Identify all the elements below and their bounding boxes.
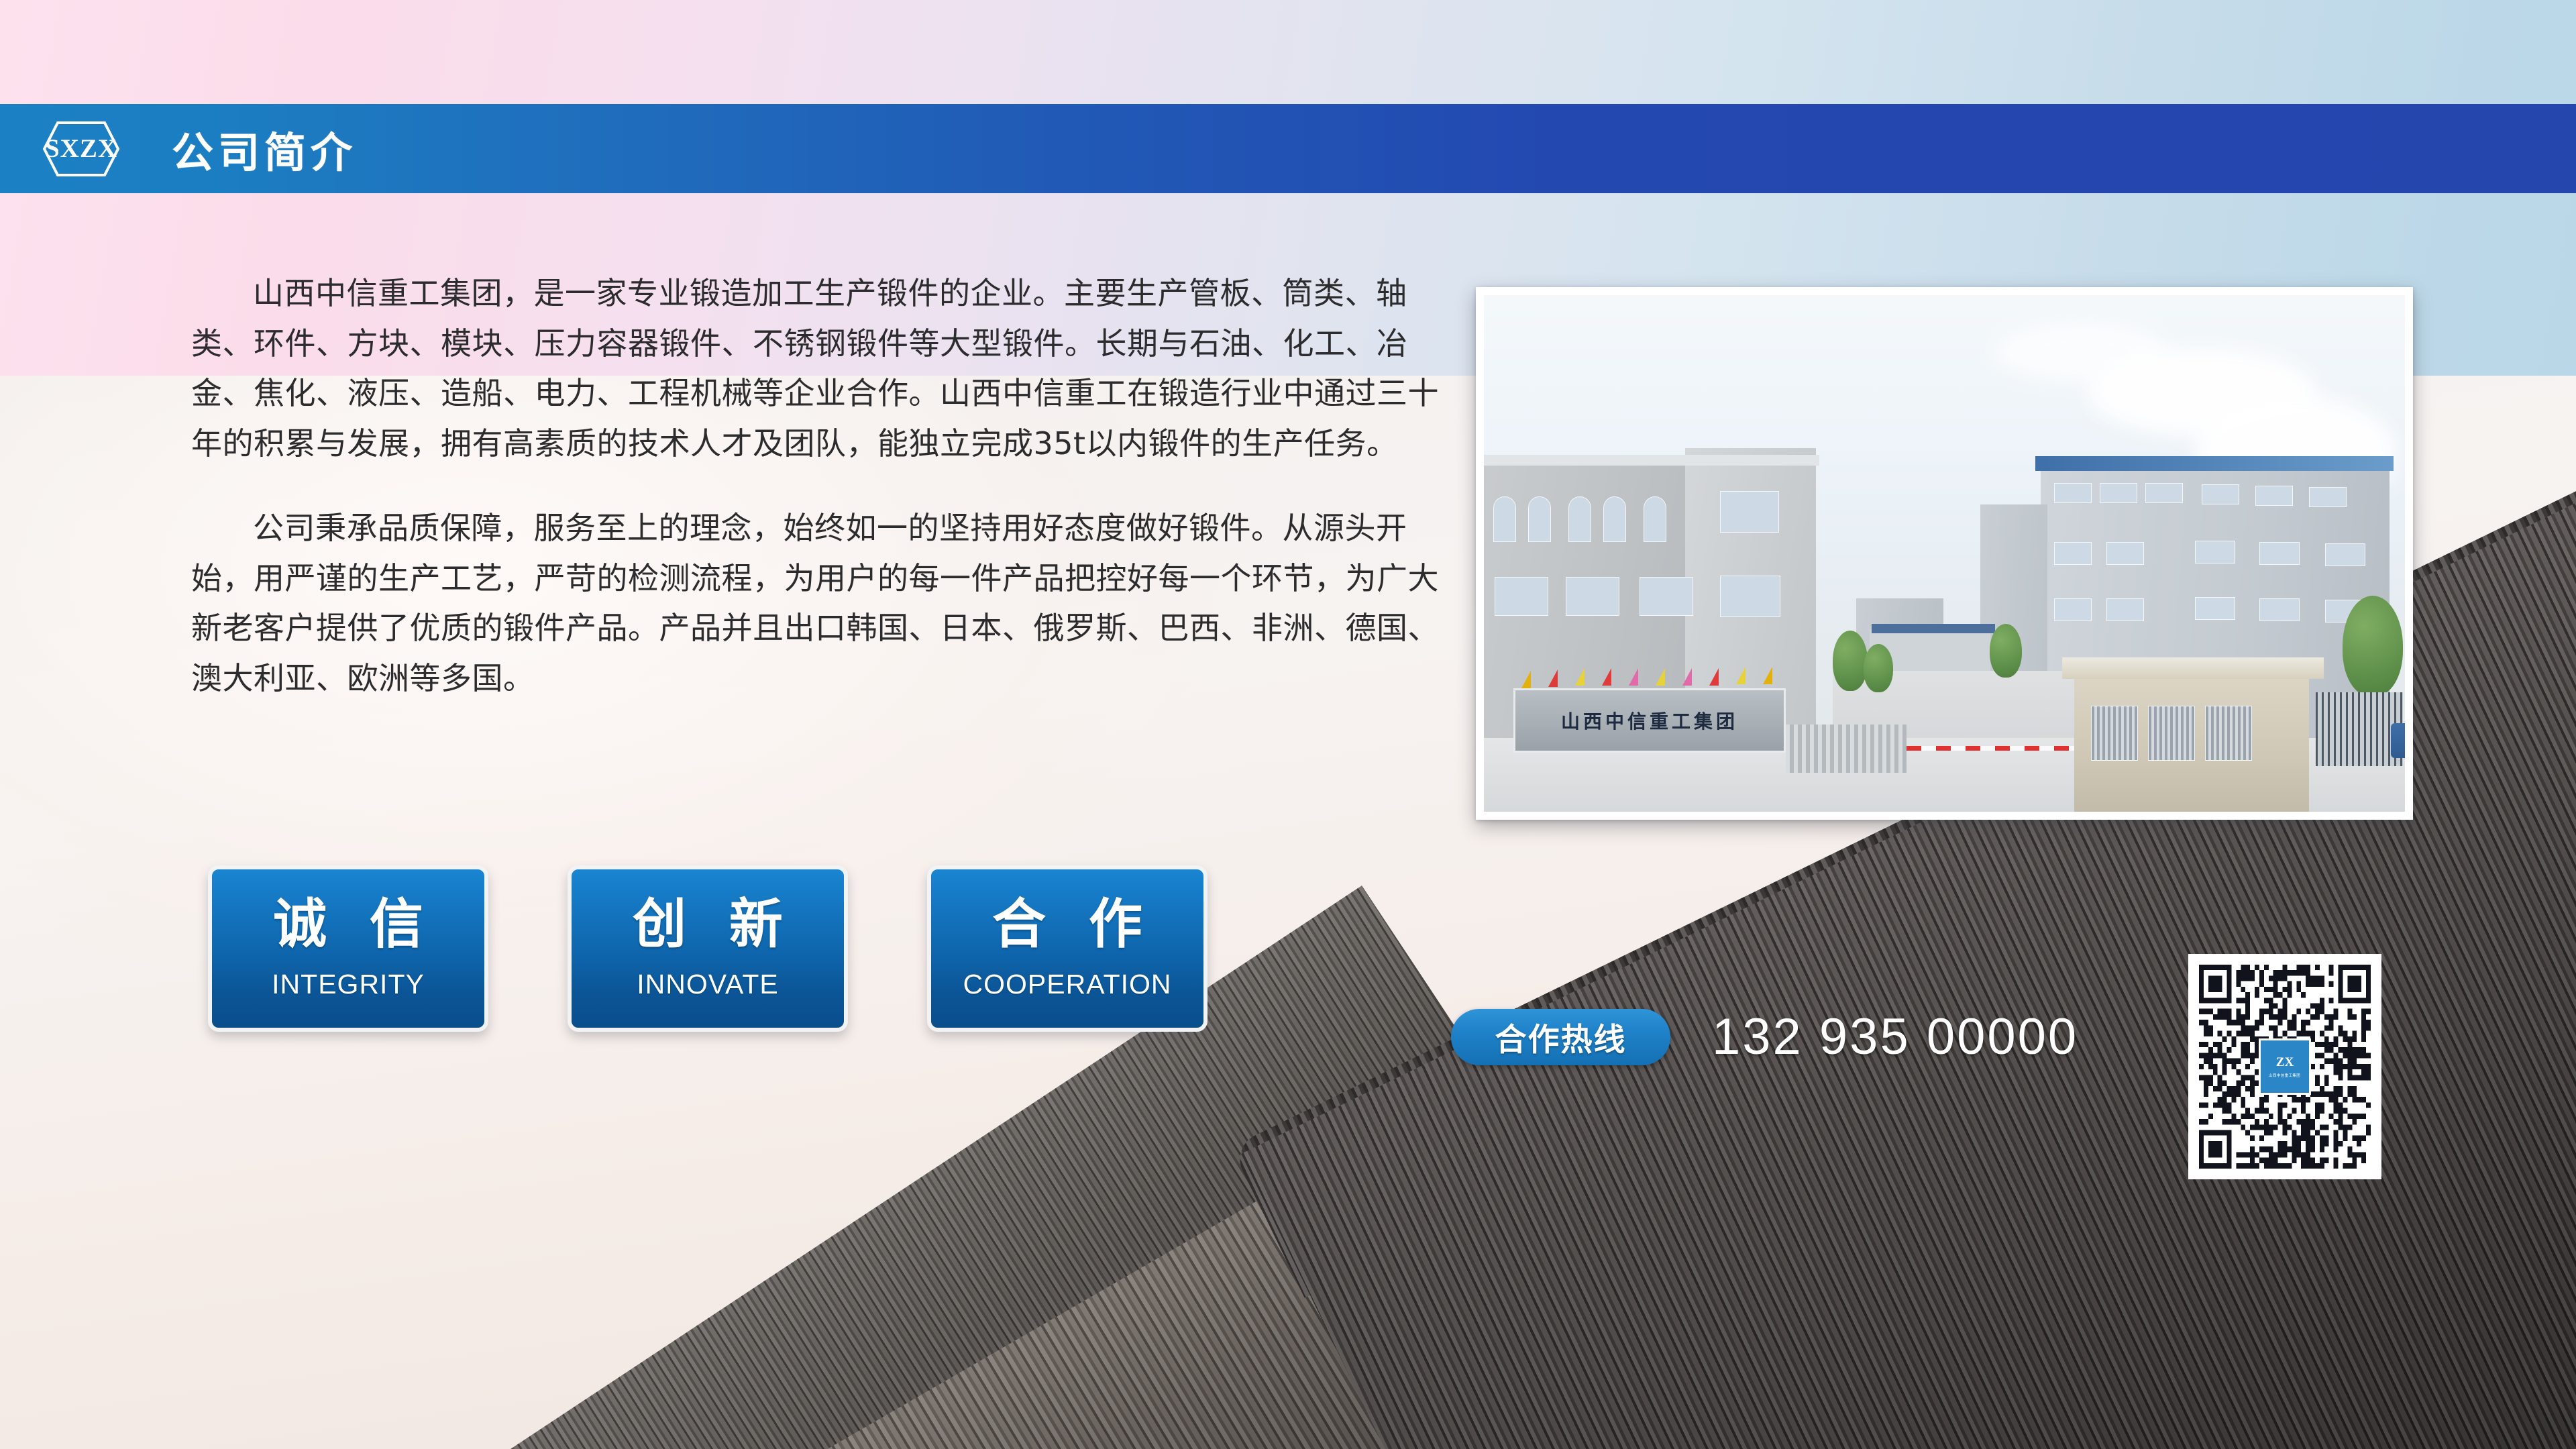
factory-sign-text: 山西中信重工集团 [1561,707,1738,734]
slide-canvas: SXZX 公司简介 山西中信重工集团，是一家专业锻造加工生产锻件的企业。主要生产… [0,0,2576,1449]
window [2106,598,2144,621]
intro-paragraph-2: 公司秉承品质保障，服务至上的理念，始终如一的坚持用好态度做好锻件。从源头开始，用… [191,503,1439,703]
factory-photo-frame: 山西中信重工集团 [1476,287,2413,820]
gatehouse-window [2148,706,2195,761]
window [2325,543,2365,566]
window [1566,577,1619,616]
window [1720,576,1780,617]
qr-code-card[interactable]: ZX 山西中信重工集团 [2188,954,2381,1179]
flag [1521,671,1531,688]
value-button-integrity[interactable]: 诚 信 INTEGRITY [208,865,488,1032]
window [2202,484,2239,504]
window [1644,496,1666,542]
flag [1709,668,1719,686]
tree [1990,624,2022,678]
cloud [1994,322,2168,382]
gatehouse-window [2091,706,2138,761]
factory-entrance-photo: 山西中信重工集团 [1484,295,2405,812]
tree [2343,596,2403,696]
window [2054,542,2092,565]
hotline-badge-label: 合作热线 [1495,1014,1627,1060]
perimeter-fence [2316,692,2403,766]
window [1493,496,1516,542]
value-label-en: COOPERATION [963,969,1172,1000]
flag [1548,669,1558,687]
wechat-qr-code[interactable]: ZX 山西中信重工集团 [2199,965,2371,1169]
qr-center-logo: ZX 山西中信重工集团 [2261,1040,2309,1093]
factory-sign-board: 山西中信重工集团 [1513,688,1786,753]
flag [1575,668,1585,686]
boom-barrier [1907,746,2088,751]
intro-paragraph-1: 山西中信重工集团，是一家专业锻造加工生产锻件的企业。主要生产管板、筒类、轴类、环… [191,268,1439,468]
hotline-phone-number[interactable]: 132 935 00000 [1712,1008,2078,1066]
qr-logo-subtext: 山西中信重工集团 [2269,1072,2300,1077]
logo-initials: SXZX [45,133,117,164]
window [2054,483,2092,503]
tree [1833,631,1868,691]
window [1640,577,1693,616]
hotline-block: 合作热线 132 935 00000 [1451,1008,2078,1066]
flag [1656,668,1665,686]
tree [1864,644,1893,692]
window [2259,598,2300,621]
value-label-en: INNOVATE [637,969,779,1000]
window [2255,486,2293,506]
window [2195,597,2235,620]
flag [1629,668,1638,686]
window [2054,598,2092,621]
flag [1602,668,1611,686]
window [2309,487,2347,507]
building-left-cornice [1484,455,1819,466]
page-title: 公司简介 [172,119,357,179]
qr-logo-initials: ZX [2276,1056,2294,1069]
flag [1736,667,1746,684]
hexagon-badge-icon: SXZX [42,120,121,178]
core-values-group: 诚 信 INTEGRITY 创 新 INNOVATE 合 作 COOPERATI… [208,865,1207,1032]
hotline-badge: 合作热线 [1451,1009,1670,1065]
window [2145,483,2183,503]
window [2106,542,2144,565]
window [1568,496,1591,542]
window [1495,577,1548,616]
flag [1763,667,1772,684]
window [1528,496,1551,542]
gatehouse-roof [2062,657,2324,679]
value-label-cn: 诚 信 [261,898,435,951]
window [1603,496,1626,542]
window [2259,542,2300,565]
window [2100,483,2137,503]
value-button-cooperation[interactable]: 合 作 COOPERATION [927,865,1207,1032]
section-header-bar: SXZX 公司简介 [0,104,2576,193]
window [1720,491,1779,533]
company-intro-text: 山西中信重工集团，是一家专业锻造加工生产锻件的企业。主要生产管板、筒类、轴类、环… [191,268,1439,703]
retractable-gate [1786,724,1907,773]
parked-vehicle [2391,723,2405,758]
building-right-roofline [2035,456,2394,471]
window [2195,541,2235,563]
building-distant-roof [1872,624,1995,633]
value-button-innovate[interactable]: 创 新 INNOVATE [568,865,848,1032]
gatehouse-window [2205,706,2252,761]
value-label-cn: 创 新 [621,898,795,951]
value-label-en: INTEGRITY [272,969,425,1000]
flag [1682,668,1692,686]
value-label-cn: 合 作 [980,898,1155,951]
